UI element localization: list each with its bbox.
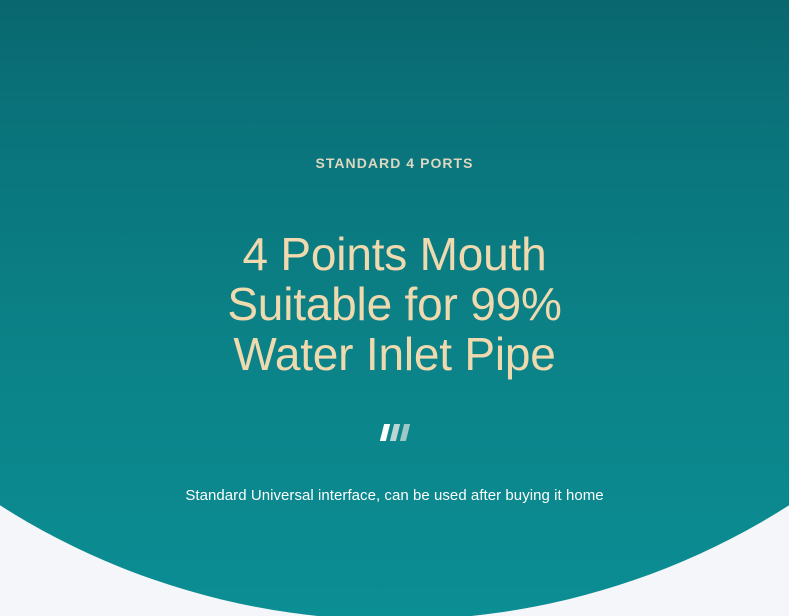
heading-line-1: 4 Points Mouth <box>0 229 789 279</box>
slanted-bar-1 <box>380 424 390 441</box>
eyebrow-label: STANDARD 4 PORTS <box>0 155 789 171</box>
slanted-bar-2 <box>390 424 400 441</box>
three-slanted-bars-icon <box>382 424 410 441</box>
page-title: 4 Points Mouth Suitable for 99% Water In… <box>0 229 789 379</box>
hero-subtitle: Standard Universal interface, can be use… <box>0 487 789 504</box>
heading-line-2: Suitable for 99% <box>0 279 789 329</box>
hero-content: STANDARD 4 PORTS 4 Points Mouth Suitable… <box>0 0 789 616</box>
hero-banner: STANDARD 4 PORTS 4 Points Mouth Suitable… <box>0 0 789 616</box>
slanted-bar-3 <box>400 424 410 441</box>
heading-line-3: Water Inlet Pipe <box>0 329 789 379</box>
